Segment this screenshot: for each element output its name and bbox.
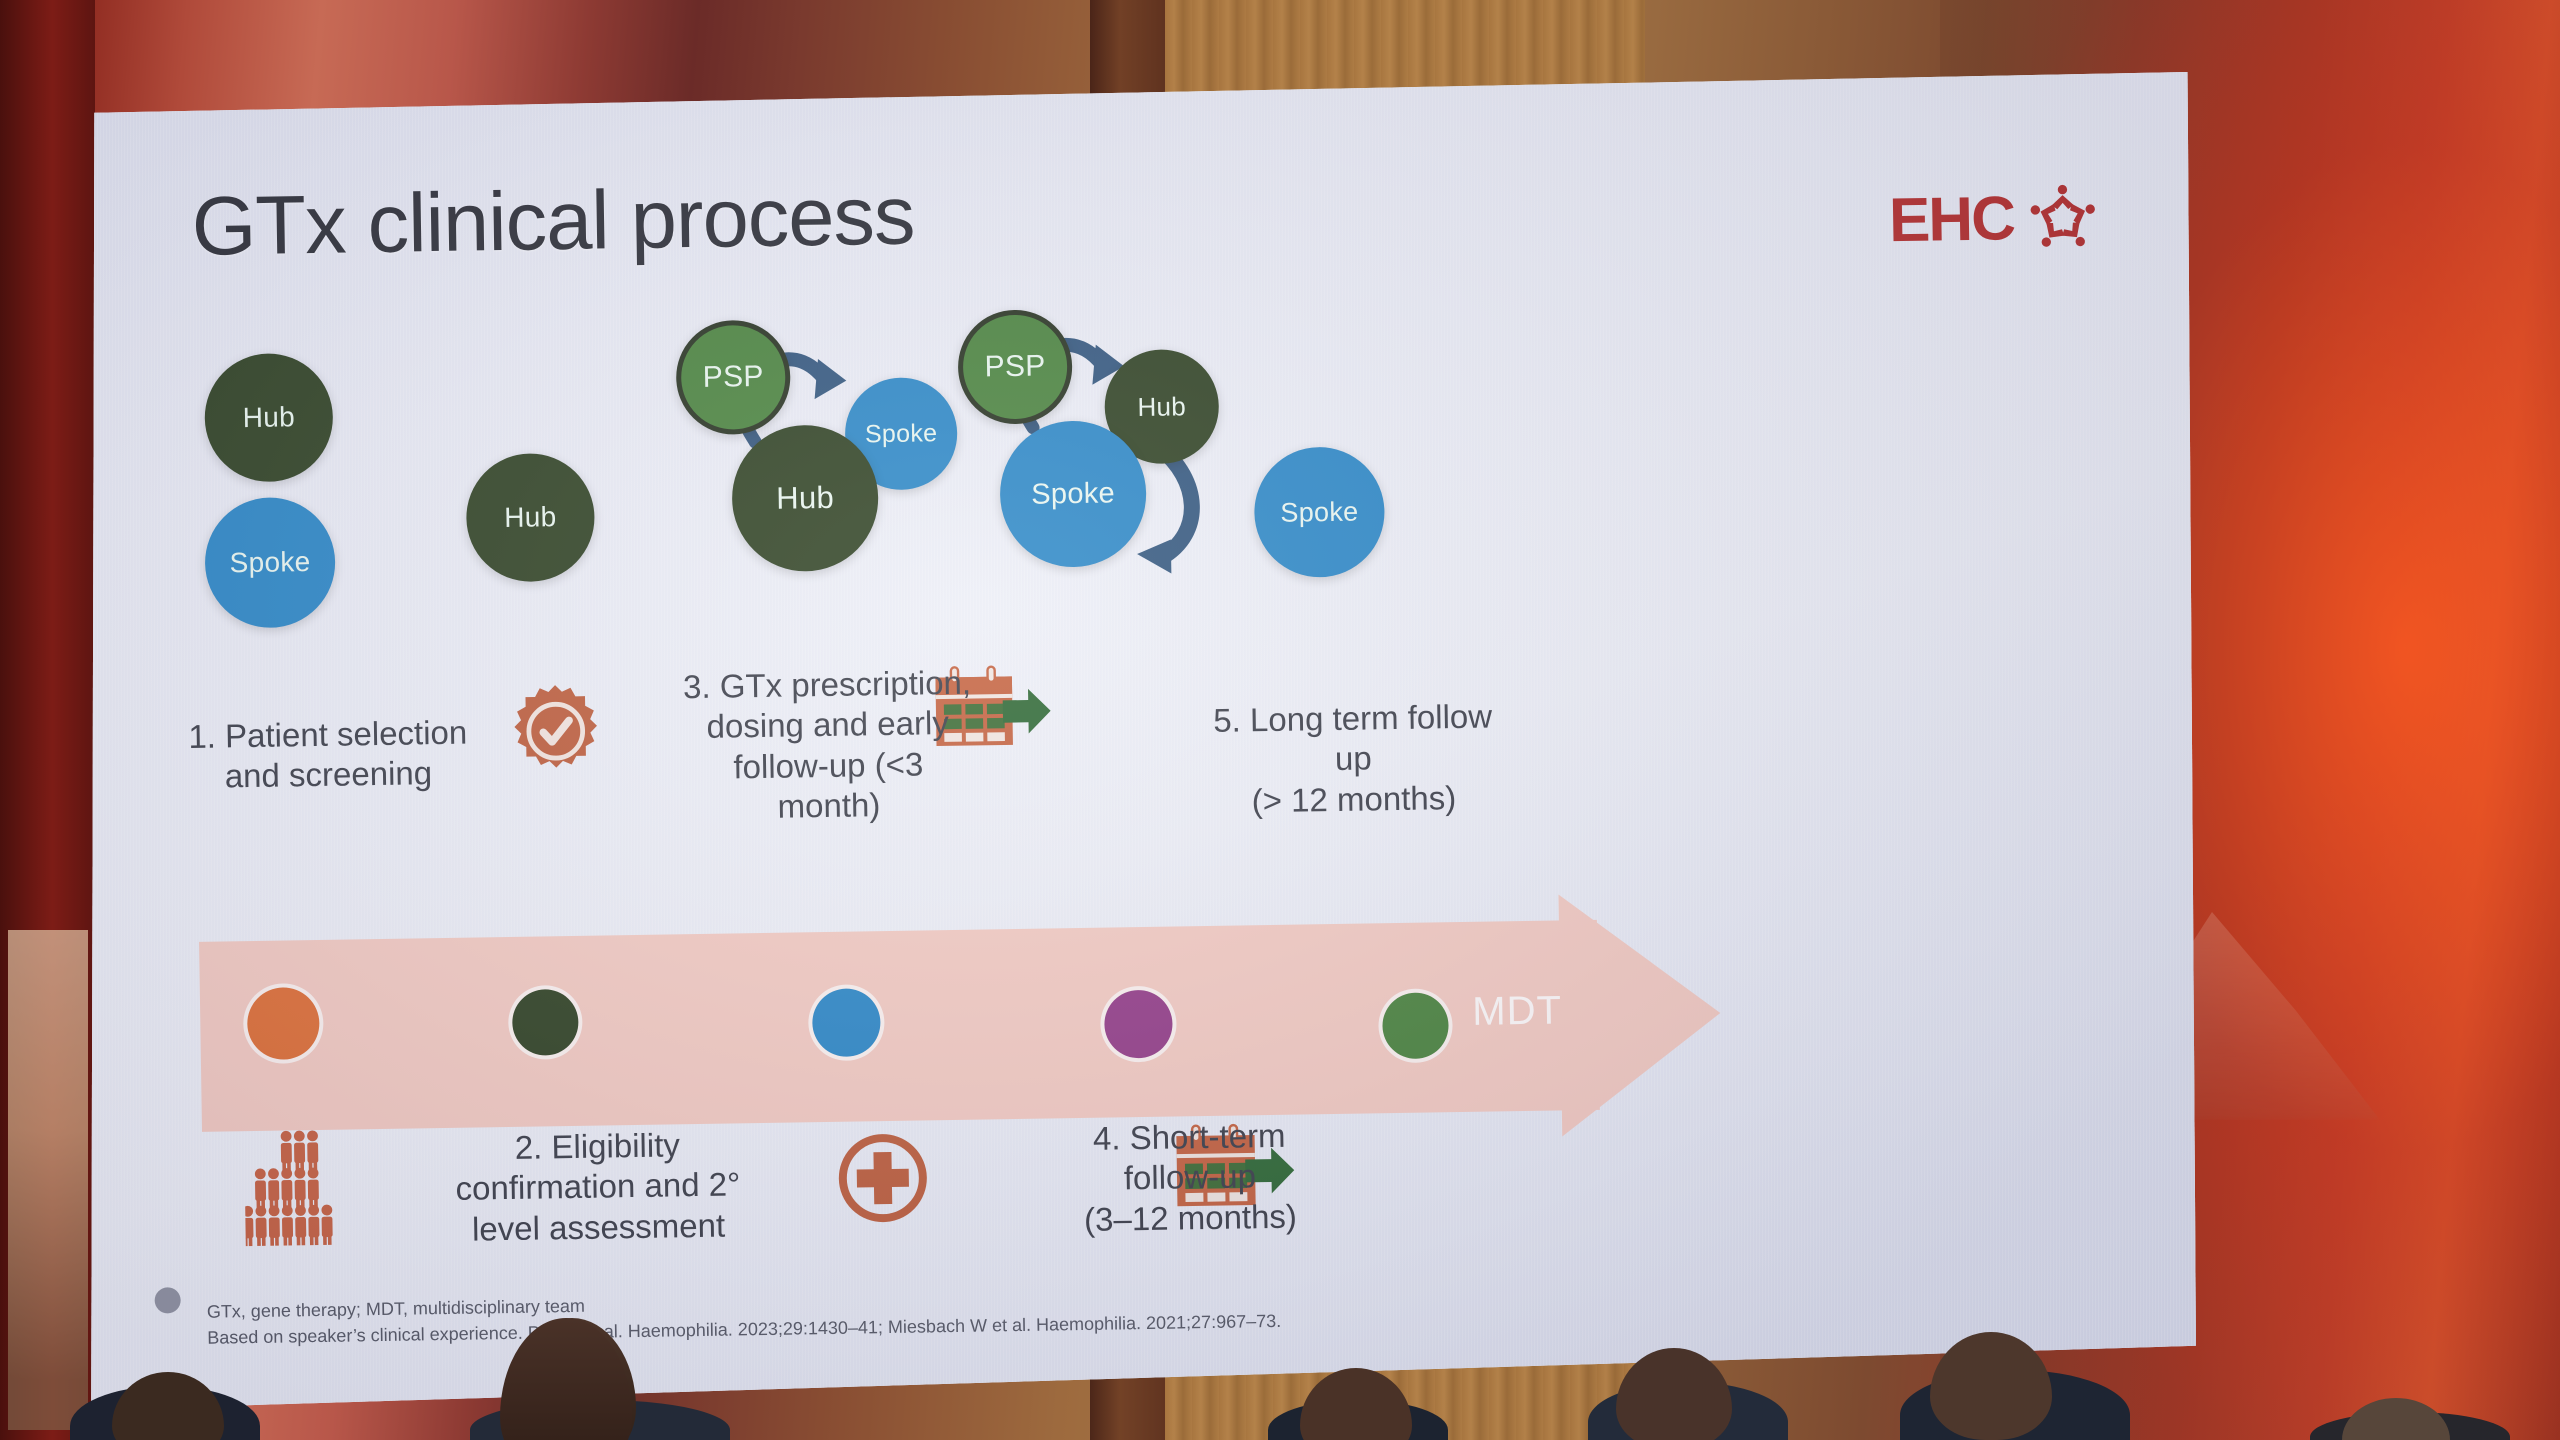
step-1-caption: 1. Patient selection and screening [168, 712, 489, 798]
slide-content: GTx clinical process EHC [78, 56, 2207, 1427]
step-4-caption: 4. Short-term follow-up (3–12 months) [1039, 1115, 1341, 1240]
badge-check-icon [507, 682, 604, 779]
slide-title: GTx clinical process [191, 168, 915, 275]
ehc-logo-text: EHC [1889, 188, 2015, 252]
node-label: Spoke [1031, 477, 1115, 511]
mdt-process-arrow: MDT [199, 917, 1760, 1131]
step-5-caption: 5. Long term follow up (> 12 months) [1202, 696, 1504, 821]
step3-node-hub: Hub [731, 424, 879, 572]
step2-node-hub: Hub [465, 453, 595, 583]
footnote: GTx, gene therapy; MDT, multidisciplinar… [207, 1282, 1282, 1351]
node-label: Hub [242, 401, 295, 434]
node-label: Hub [1137, 391, 1186, 423]
medical-cross-circle-icon [832, 1127, 934, 1229]
step-3-caption: 3. GTx prescription, dosing and early fo… [677, 663, 979, 829]
node-label: Spoke [229, 546, 310, 579]
people-pyramid-icon [244, 1124, 354, 1246]
step-2-caption: 2. Eligibility confirmation and 2° level… [432, 1124, 764, 1250]
mdt-label: MDT [1472, 988, 1562, 1034]
node-label: PSP [703, 360, 764, 395]
projection-screen: GTx clinical process EHC [88, 72, 2196, 1410]
photo-of-conference-slide: GTx clinical process EHC [0, 0, 2560, 1440]
left-window [8, 930, 88, 1430]
node-label: Spoke [865, 419, 938, 449]
node-label: PSP [984, 349, 1045, 384]
step1-node-spoke: Spoke [204, 497, 336, 629]
footnote-bullet [154, 1287, 180, 1313]
ehc-people-circle-icon [2023, 179, 2102, 258]
node-label: Spoke [1280, 496, 1359, 528]
ehc-logo: EHC [1888, 179, 2102, 260]
node-label: Hub [504, 501, 557, 534]
step5-node-spoke: Spoke [1253, 446, 1385, 578]
node-label: Hub [776, 480, 834, 517]
step1-node-hub: Hub [204, 353, 334, 483]
arrow-head [1558, 892, 1722, 1136]
